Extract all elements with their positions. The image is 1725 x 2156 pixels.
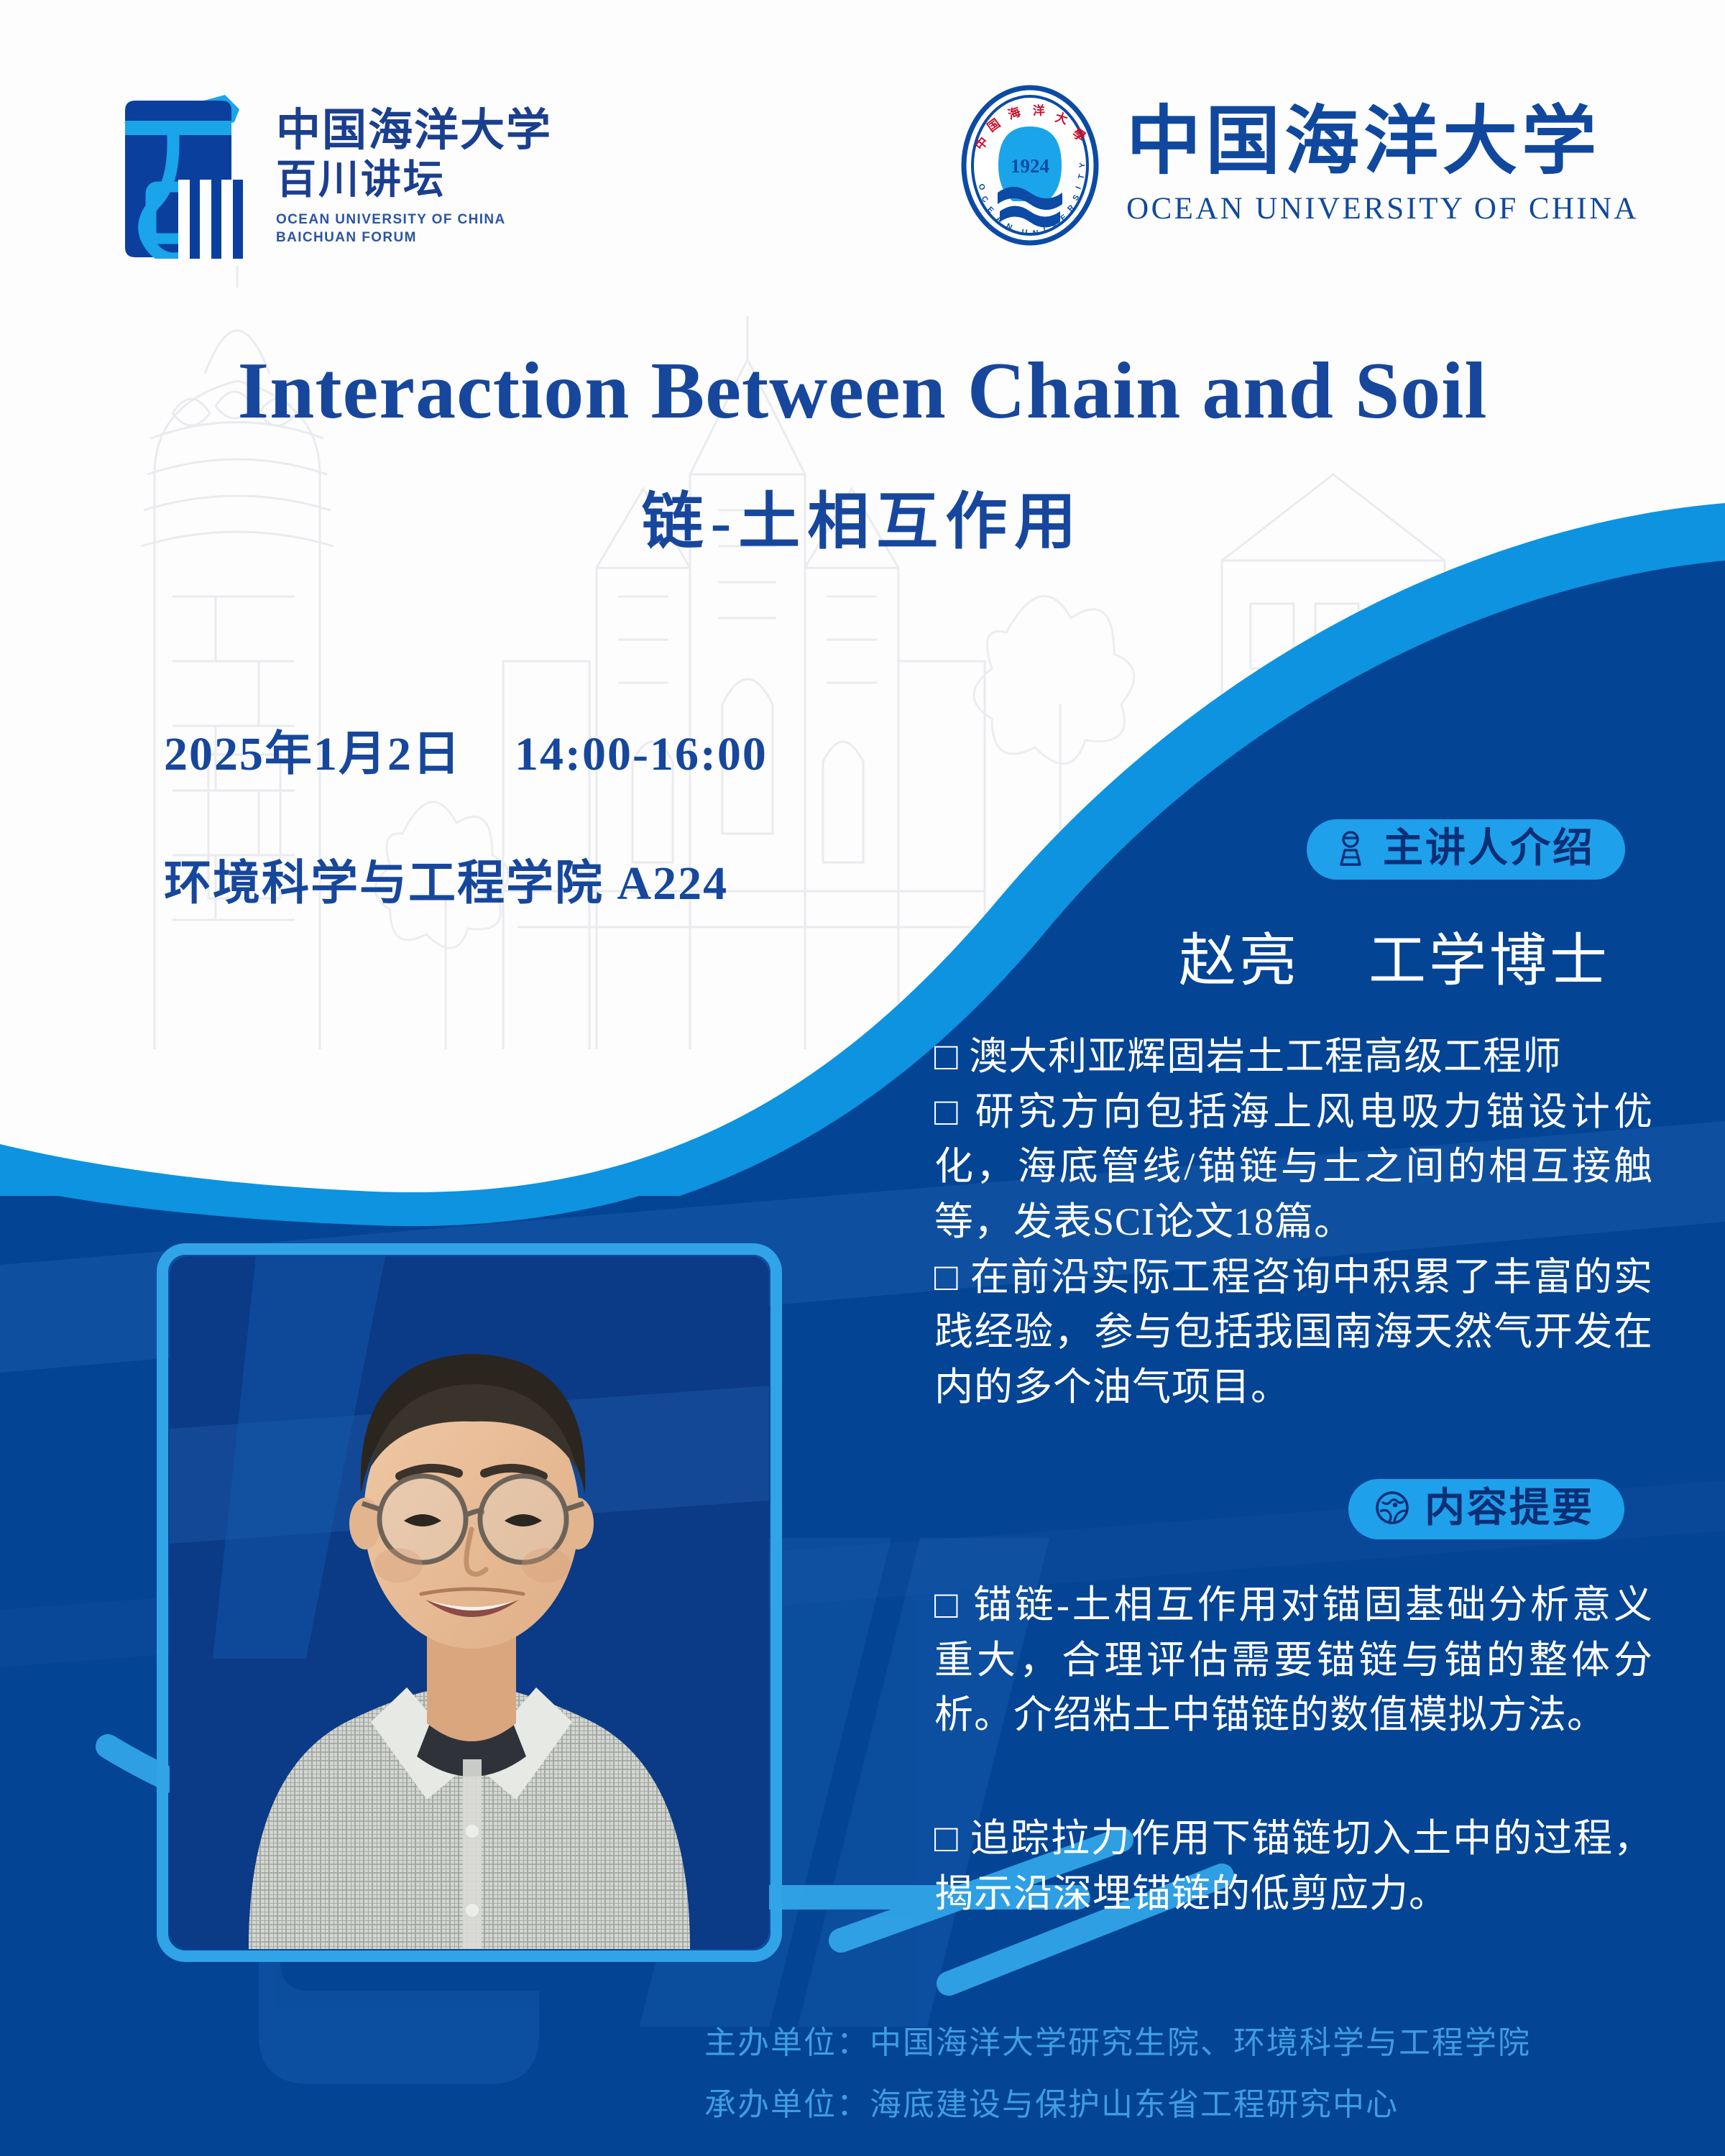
left-logo-cn-line1: 中国海洋大学 — [276, 108, 552, 154]
event-venue: 环境科学与工程学院 A224 — [164, 844, 728, 913]
ouc-wordmark-cn: 中国海洋大学 — [1126, 105, 1639, 180]
page-title-english: Interaction Between Chain and Soil — [0, 345, 1725, 438]
ouc-seal-icon: 1924 中 国 海 洋 大 學 O C E A N — [958, 85, 1102, 247]
seal-year: 1924 — [1011, 155, 1049, 177]
speaker-person-icon — [1331, 829, 1370, 867]
svg-text:N: N — [1032, 229, 1039, 238]
speaker-section-badge: 主讲人介绍 — [1307, 819, 1625, 880]
left-logo-en-line1: OCEAN UNIVERSITY OF CHINA — [276, 212, 552, 228]
content-paragraph-0: □ 锚链-土相互作用对锚固基础分析意义重大，合理评估需要锚链与锚的整体分析。介绍… — [934, 1577, 1653, 1743]
speaker-badge-label: 主讲人介绍 — [1383, 828, 1595, 868]
globe-icon — [1373, 1488, 1412, 1527]
footer-co-organizer: 承办单位：海底建设与保护山东省工程研究中心 — [704, 2074, 1667, 2136]
left-logo-cn-line2: 百川讲坛 — [276, 157, 552, 202]
poster-header: 中国海洋大学 百川讲坛 OCEAN UNIVERSITY OF CHINA BA… — [0, 0, 1725, 302]
baichuan-logo-icon — [92, 79, 257, 259]
svg-text:洋: 洋 — [1033, 103, 1046, 118]
left-logo-en-line2: BAICHUAN FORUM — [276, 230, 552, 246]
bio-item-1: □ 研究方向包括海上风电吸力锚设计优化，海底管线/锚链与土之间的相互接触等，发表… — [934, 1084, 1653, 1250]
ouc-logo: 1924 中 国 海 洋 大 學 O C E A N — [958, 85, 1639, 247]
event-datetime: 2025年1月2日 14:00-16:00 — [164, 715, 768, 784]
speaker-bio-block: □ 澳大利亚辉固岩土工程高级工程师 □ 研究方向包括海上风电吸力锚设计优化，海底… — [934, 1029, 1653, 1415]
content-paragraph-1: □ 追踪拉力作用下锚链切入土中的过程，揭示沿深埋锚链的低剪应力。 — [934, 1811, 1653, 1921]
content-badge-label: 内容提要 — [1425, 1488, 1594, 1528]
speaker-name: 赵亮 工学博士 — [1179, 914, 1610, 998]
content-section-badge: 内容提要 — [1348, 1479, 1624, 1539]
page-title-chinese: 链-土相互作用 — [0, 471, 1725, 561]
poster-root: 中国海洋大学 百川讲坛 OCEAN UNIVERSITY OF CHINA BA… — [0, 0, 1725, 2156]
bio-item-0: □ 澳大利亚辉固岩土工程高级工程师 — [934, 1029, 1653, 1084]
portrait-frame — [157, 1243, 782, 1962]
ouc-wordmark-en: OCEAN UNIVERSITY OF CHINA — [1126, 191, 1639, 226]
bio-item-2: □ 在前沿实际工程咨询中积累了丰富的实践经验，参与包括我国南海天然气开发在内的多… — [934, 1250, 1653, 1415]
baichuan-forum-logo: 中国海洋大学 百川讲坛 OCEAN UNIVERSITY OF CHINA BA… — [92, 79, 552, 259]
footer-organizer: 主办单位：中国海洋大学研究生院、环境科学与工程学院 — [704, 2012, 1667, 2074]
footer-organizers: 主办单位：中国海洋大学研究生院、环境科学与工程学院 承办单位：海底建设与保护山东… — [704, 2012, 1667, 2136]
